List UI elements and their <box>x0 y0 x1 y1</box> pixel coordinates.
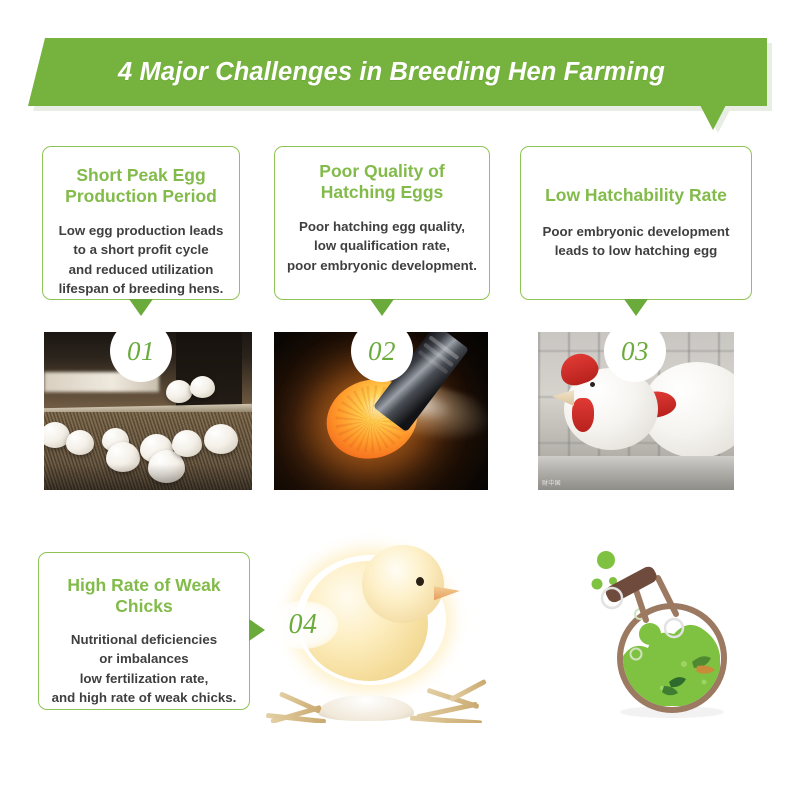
bubble-large <box>597 551 615 569</box>
challenge-card-1: Short Peak Egg Production Period Low egg… <box>42 146 240 300</box>
arrow-down-icon-1 <box>129 299 153 316</box>
straw-piece <box>449 679 487 702</box>
header-banner: 4 Major Challenges in Breeding Hen Farmi… <box>28 38 772 140</box>
card-body-1: Low egg production leads to a short prof… <box>59 221 224 298</box>
card-title-4: High Rate of Weak Chicks <box>49 575 239 617</box>
egg-shape <box>66 430 94 455</box>
feed-trough <box>538 456 734 490</box>
challenge-card-3: Low Hatchability Rate Poor embryonic dev… <box>520 146 752 300</box>
card-title-1: Short Peak Egg Production Period <box>65 165 217 207</box>
arrow-right-icon-4 <box>249 619 265 641</box>
card-body-2: Poor hatching egg quality, low qualifica… <box>287 217 477 275</box>
inner-bubble <box>639 623 661 645</box>
lab-flask-icon <box>572 536 756 726</box>
bubble-medium <box>592 579 603 590</box>
banner-tail <box>700 105 726 130</box>
egg-shape <box>172 430 202 457</box>
card-title-3: Low Hatchability Rate <box>545 185 727 206</box>
image-watermark: 财中国 <box>542 478 561 487</box>
arrow-down-icon-2 <box>370 299 394 316</box>
hen-eye <box>590 382 595 387</box>
banner-body: 4 Major Challenges in Breeding Hen Farmi… <box>28 38 767 106</box>
card-title-2: Poor Quality of Hatching Eggs <box>319 161 444 203</box>
card-body-4: Nutritional deficiencies or imbalances l… <box>52 630 237 707</box>
infographic-page: 4 Major Challenges in Breeding Hen Farmi… <box>0 0 800 800</box>
page-title: 4 Major Challenges in Breeding Hen Farmi… <box>118 58 665 87</box>
straw-bedding <box>266 675 490 723</box>
number-badge-2: 02 <box>351 320 413 382</box>
egg-shape <box>204 424 238 454</box>
chick-head <box>362 545 444 623</box>
card-body-3: Poor embryonic development leads to low … <box>543 222 730 261</box>
hen-wattle-front <box>572 398 594 432</box>
chick-eye <box>416 577 424 586</box>
challenge-card-4: High Rate of Weak Chicks Nutritional def… <box>38 552 250 710</box>
egg-shape <box>190 376 215 398</box>
inner-bubble <box>639 663 649 673</box>
photo-vignette <box>44 464 252 490</box>
egg-shape <box>166 380 192 403</box>
number-badge-3: 03 <box>604 320 666 382</box>
straw-piece <box>410 715 482 723</box>
arrow-down-icon-3 <box>624 299 648 316</box>
number-badge-1: 01 <box>110 320 172 382</box>
challenge-card-2: Poor Quality of Hatching Eggs Poor hatch… <box>274 146 490 300</box>
number-badge-4: 04 <box>268 601 338 649</box>
